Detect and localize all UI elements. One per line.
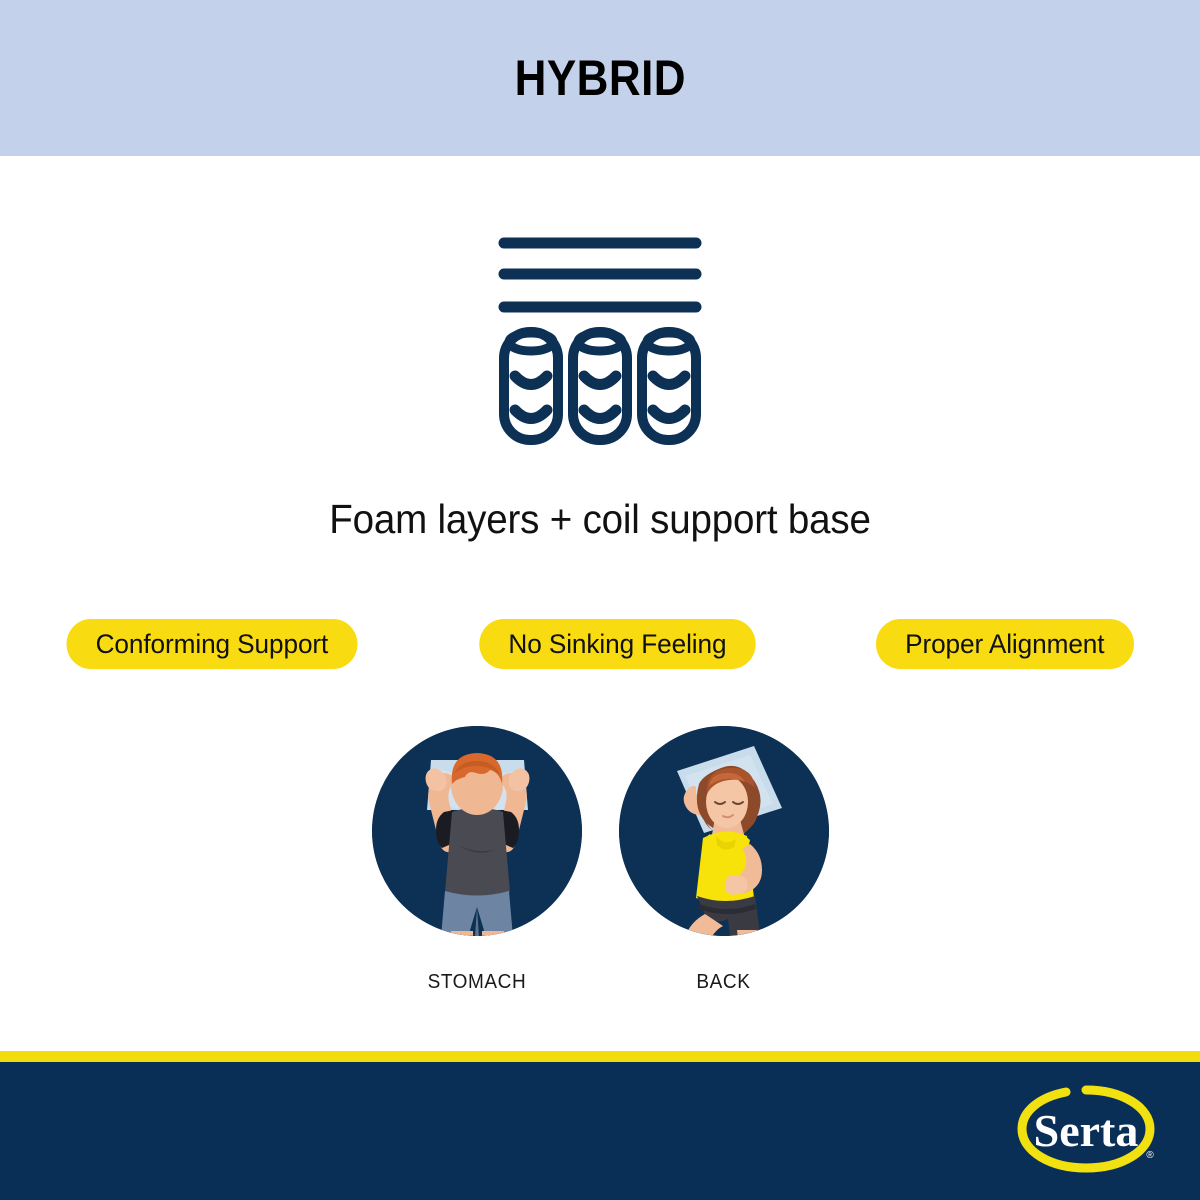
main-content: Foam layers + coil support base Conformi…	[0, 156, 1200, 1051]
sleep-position-back[interactable]: BACK	[619, 726, 829, 994]
sleep-position-row: STOMACH	[0, 726, 1200, 994]
page-footer: Serta ®	[0, 1062, 1200, 1200]
page-header: HYBRID	[0, 0, 1200, 156]
stomach-sleeper-icon	[372, 726, 582, 936]
sleep-position-stomach[interactable]: STOMACH	[372, 726, 582, 994]
sleep-position-label: STOMACH	[427, 971, 526, 994]
feature-pill-conforming-support[interactable]: Conforming Support	[66, 619, 357, 669]
serta-logo[interactable]: Serta ®	[1010, 1084, 1162, 1182]
page-title: HYBRID	[514, 53, 685, 103]
sleep-position-label: BACK	[696, 971, 750, 994]
feature-pill-proper-alignment[interactable]: Proper Alignment	[876, 619, 1134, 669]
hybrid-mattress-icon	[490, 226, 710, 446]
registered-trademark-icon: ®	[1146, 1150, 1154, 1161]
back-sleeper-icon	[619, 726, 829, 936]
serta-wordmark: Serta	[1034, 1105, 1139, 1156]
footer-accent-stripe	[0, 1051, 1200, 1062]
feature-pill-no-sinking-feeling[interactable]: No Sinking Feeling	[479, 619, 755, 669]
feature-pill-row: Conforming Support No Sinking Feeling Pr…	[62, 619, 1138, 669]
coil-group	[504, 332, 696, 440]
product-description: Foam layers + coil support base	[36, 496, 1164, 543]
